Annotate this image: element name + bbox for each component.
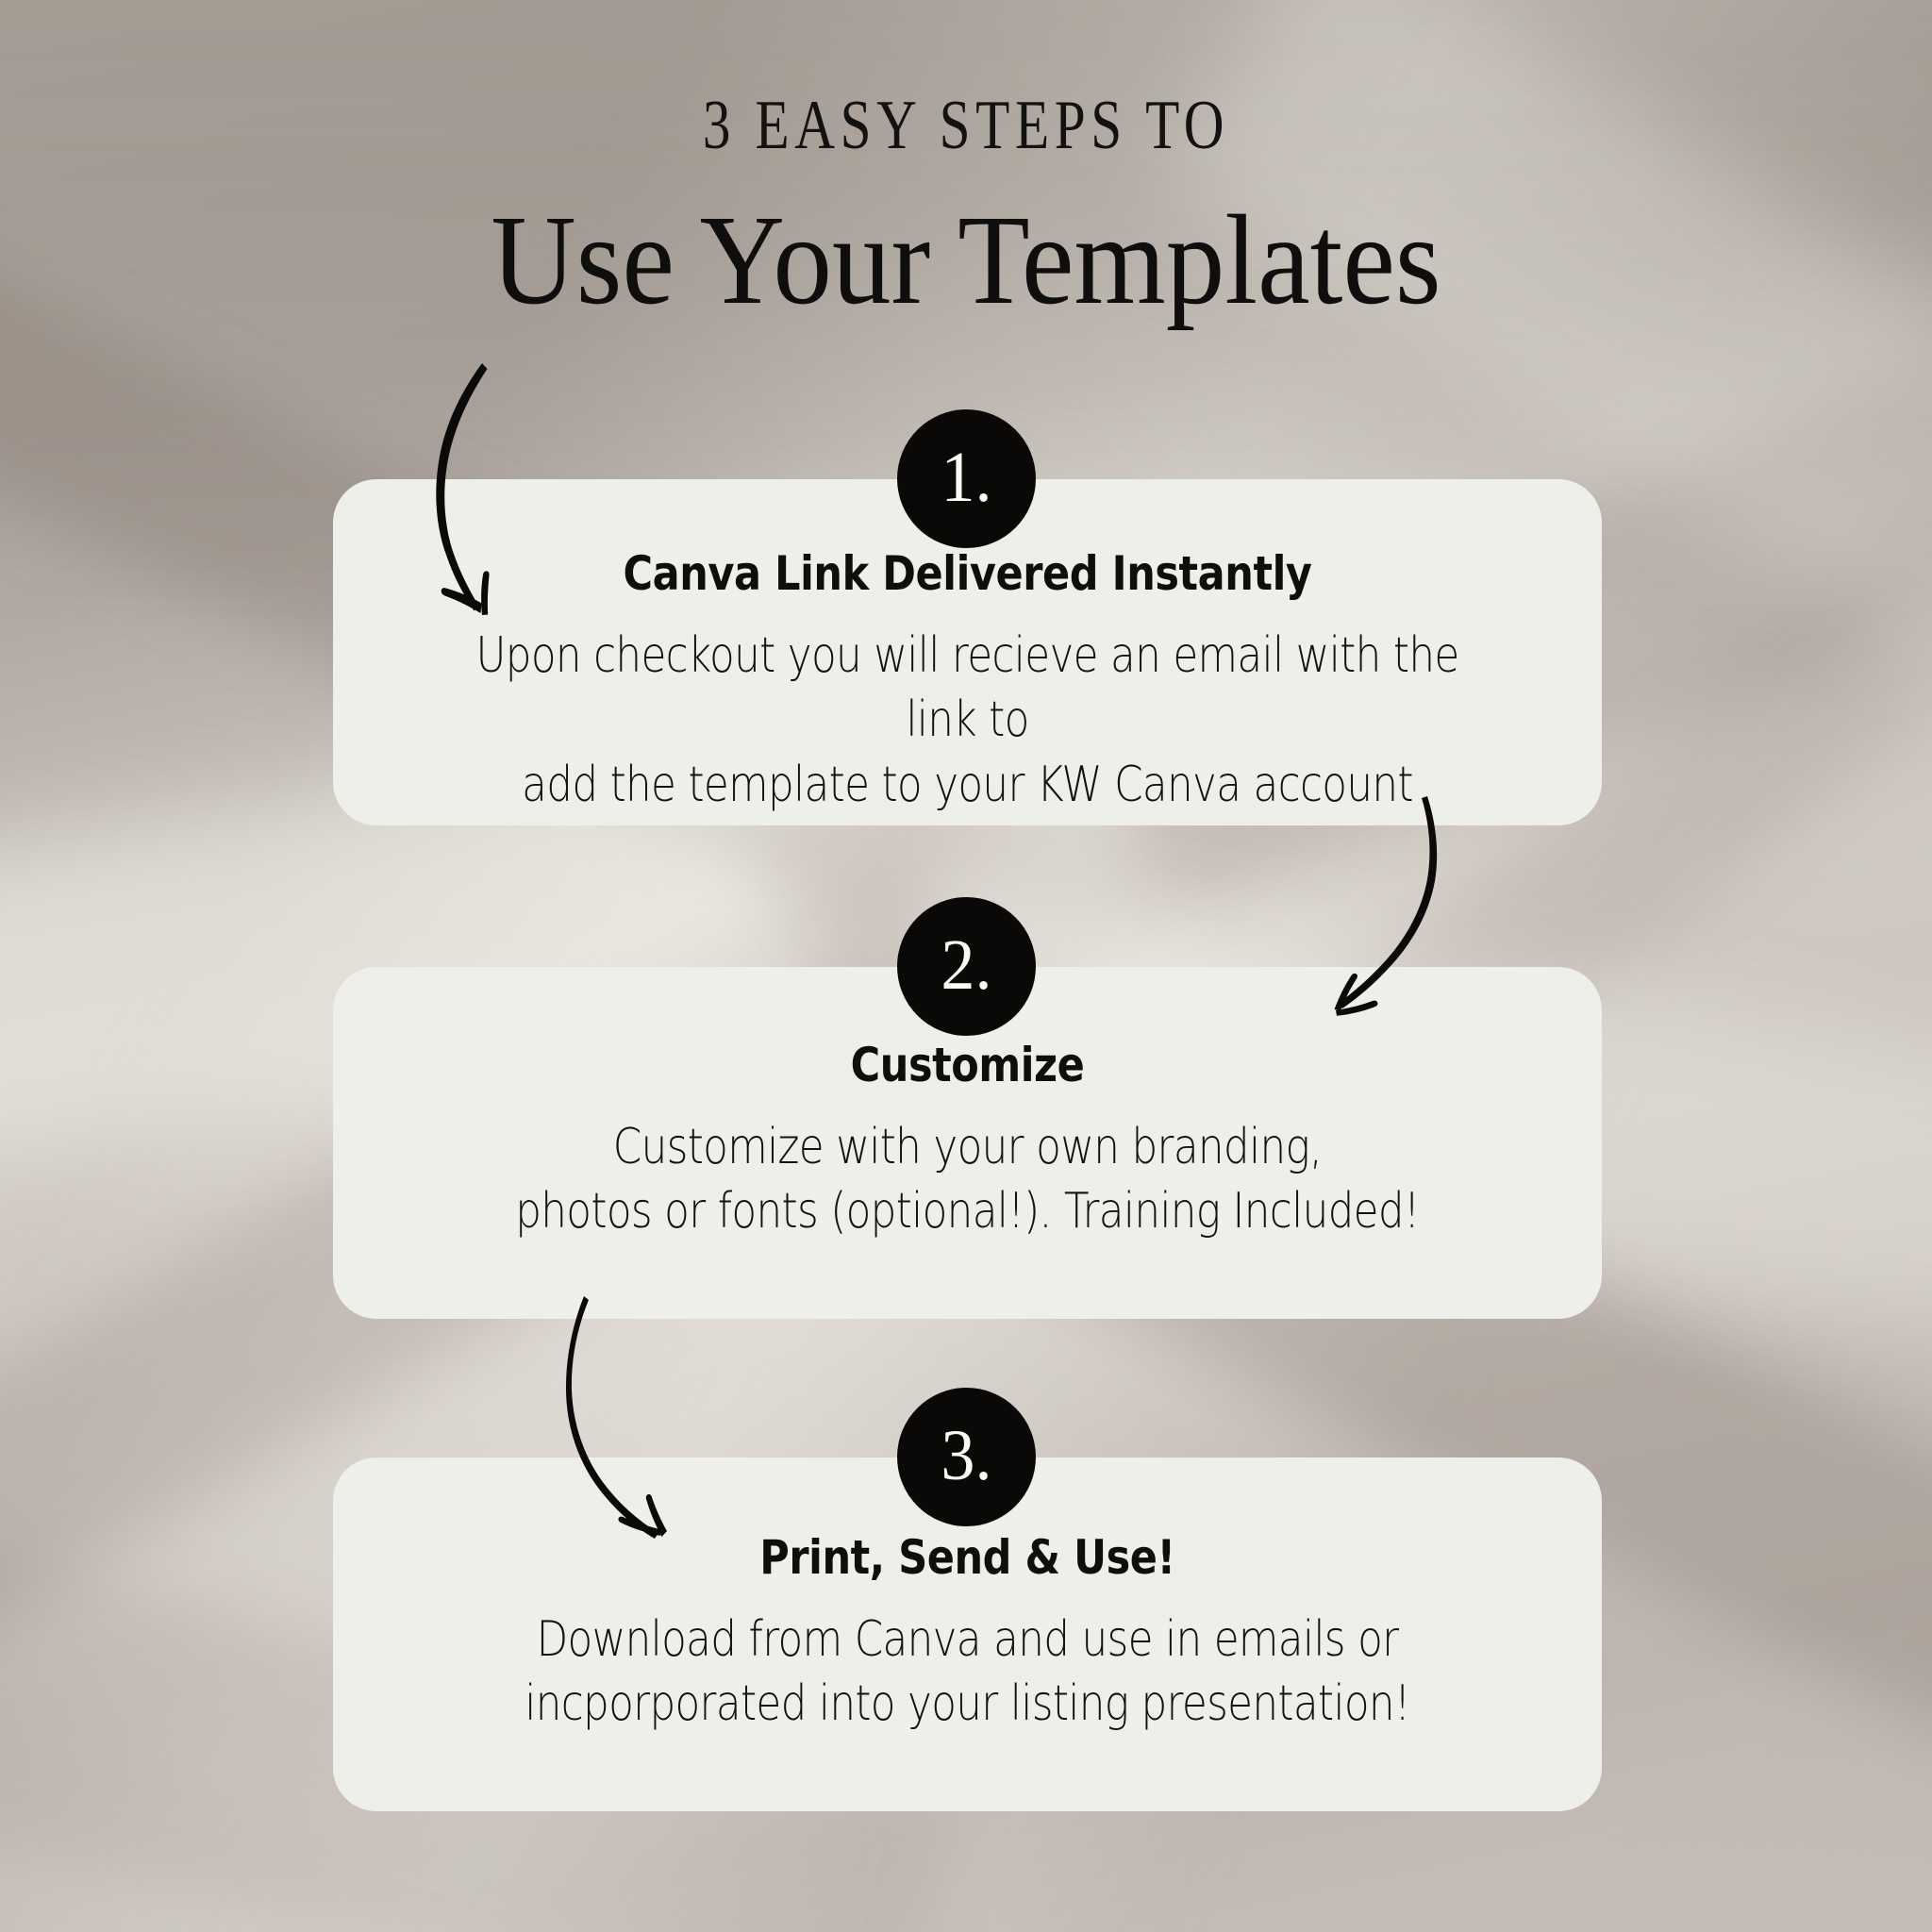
step-number-badge-1-label: 1. <box>941 441 991 513</box>
step-card-3-body: Download from Canva and use in emails or… <box>435 1607 1501 1737</box>
step-card-1-title: Canva Link Delivered Instantly <box>422 549 1513 599</box>
infographic-canvas: 3 EASY STEPS TO Use Your Templates Canva… <box>0 0 1932 1932</box>
step-card-3-title: Print, Send & Use! <box>422 1533 1513 1583</box>
step-card-3-content: Print, Send & Use! Download from Canva a… <box>333 1533 1602 1737</box>
step-card-1-body: Upon checkout you will recieve an email … <box>435 624 1501 818</box>
step-number-badge-3-label: 3. <box>941 1420 991 1491</box>
page-title: Use Your Templates <box>77 196 1855 325</box>
step-card-1-content: Canva Link Delivered Instantly Upon chec… <box>333 549 1602 817</box>
step-card-2-content: Customize Customize with your own brandi… <box>333 1041 1602 1244</box>
step-number-badge-1: 1. <box>897 409 1036 548</box>
step-card-2-body: Customize with your own branding, photos… <box>435 1115 1501 1244</box>
step-number-badge-2: 2. <box>897 897 1036 1036</box>
step-number-badge-2-label: 2. <box>941 929 991 1001</box>
eyebrow-text: 3 EASY STEPS TO <box>193 91 1739 160</box>
step-card-2-title: Customize <box>422 1041 1513 1091</box>
step-number-badge-3: 3. <box>897 1388 1036 1526</box>
page-header: 3 EASY STEPS TO Use Your Templates <box>0 91 1932 325</box>
